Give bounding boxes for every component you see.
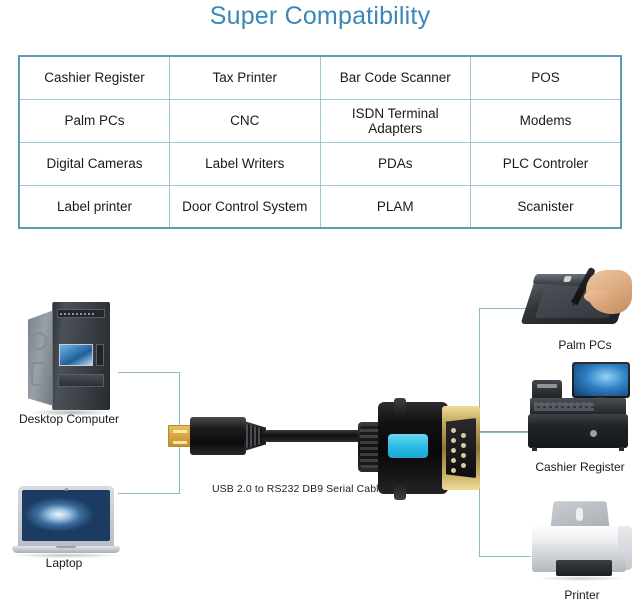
label-desktop-computer: Desktop Computer xyxy=(6,412,132,426)
laptop-icon xyxy=(12,486,120,558)
tower-vent-icon xyxy=(31,332,47,350)
tower-display-icon xyxy=(59,344,93,366)
hand-finger xyxy=(584,290,610,303)
table-row: Cashier Register Tax Printer Bar Code Sc… xyxy=(19,56,621,99)
table-cell: Cashier Register xyxy=(19,56,170,99)
cash-register-icon xyxy=(524,362,634,452)
label-cashier-register: Cashier Register xyxy=(526,460,634,474)
register-monitor-display xyxy=(574,364,628,396)
desktop-tower-icon xyxy=(28,302,110,412)
tower-vent-lower-icon xyxy=(31,362,46,386)
laptop-camera-icon xyxy=(65,488,68,491)
compatibility-table: Cashier Register Tax Printer Bar Code Sc… xyxy=(18,55,622,229)
label-palm-pcs: Palm PCs xyxy=(540,338,630,352)
tower-buttons-icon xyxy=(96,344,104,366)
label-printer: Printer xyxy=(534,588,630,602)
graphics-tablet-icon xyxy=(528,266,632,328)
table-cell: Bar Code Scanner xyxy=(320,56,471,99)
connection-diagram: Desktop Computer Laptop xyxy=(0,250,640,603)
table-row: Digital Cameras Label Writers PDAs PLC C… xyxy=(19,142,621,185)
label-cable: USB 2.0 to RS232 DB9 Serial Cable xyxy=(212,483,385,495)
connector-line-printer xyxy=(479,556,531,557)
table-cell: POS xyxy=(471,56,622,99)
table-cell: Label Writers xyxy=(170,142,321,185)
receipt-printer-icon xyxy=(532,380,562,400)
table-cell: Scanister xyxy=(471,185,622,228)
connector-line-desktop xyxy=(118,372,180,373)
connector-line-palm-pcs xyxy=(479,308,531,309)
laptop-lid xyxy=(18,486,114,547)
table-cell: CNC xyxy=(170,99,321,142)
table-cell: Modems xyxy=(471,99,622,142)
table-cell: Label printer xyxy=(19,185,170,228)
tower-drive-bay-icon xyxy=(57,309,105,318)
table-row: Palm PCs CNC ISDN Terminal Adapters Mode… xyxy=(19,99,621,142)
printer-shadow xyxy=(538,576,624,581)
table-cell: Digital Cameras xyxy=(19,142,170,185)
table-cell: Door Control System xyxy=(170,185,321,228)
register-legs xyxy=(532,447,624,451)
usb-connector-body xyxy=(190,417,246,455)
cable-cord xyxy=(262,430,372,442)
table-row: Label printer Door Control System PLAM S… xyxy=(19,185,621,228)
compatibility-infographic: Super Compatibility Cashier Register Tax… xyxy=(0,0,640,603)
page-title: Super Compatibility xyxy=(0,0,640,32)
table-cell: PDAs xyxy=(320,142,471,185)
db9-pins-icon xyxy=(450,426,472,470)
register-cash-drawer xyxy=(528,414,628,448)
db9-label-panel xyxy=(388,434,428,458)
tower-side-panel xyxy=(28,310,54,406)
laptop-screen xyxy=(22,490,110,541)
connector-line-to-db9 xyxy=(480,432,530,433)
inkjet-printer-icon xyxy=(530,500,634,582)
label-laptop: Laptop xyxy=(8,556,120,570)
usb-connector-icon xyxy=(168,425,192,447)
db9-thumbscrew-top-icon xyxy=(394,398,406,418)
printer-top-cover xyxy=(532,526,626,552)
laptop-base xyxy=(12,546,120,553)
register-monitor-icon xyxy=(572,362,630,398)
table-cell: PLAM xyxy=(320,185,471,228)
tower-lower-bay-icon xyxy=(58,374,104,387)
db9-thumbscrew-bottom-icon xyxy=(394,480,406,500)
table-cell: Palm PCs xyxy=(19,99,170,142)
table-cell: Tax Printer xyxy=(170,56,321,99)
table-cell: PLC Controler xyxy=(471,142,622,185)
table-cell: ISDN Terminal Adapters xyxy=(320,99,471,142)
printer-output-tray xyxy=(556,560,612,576)
